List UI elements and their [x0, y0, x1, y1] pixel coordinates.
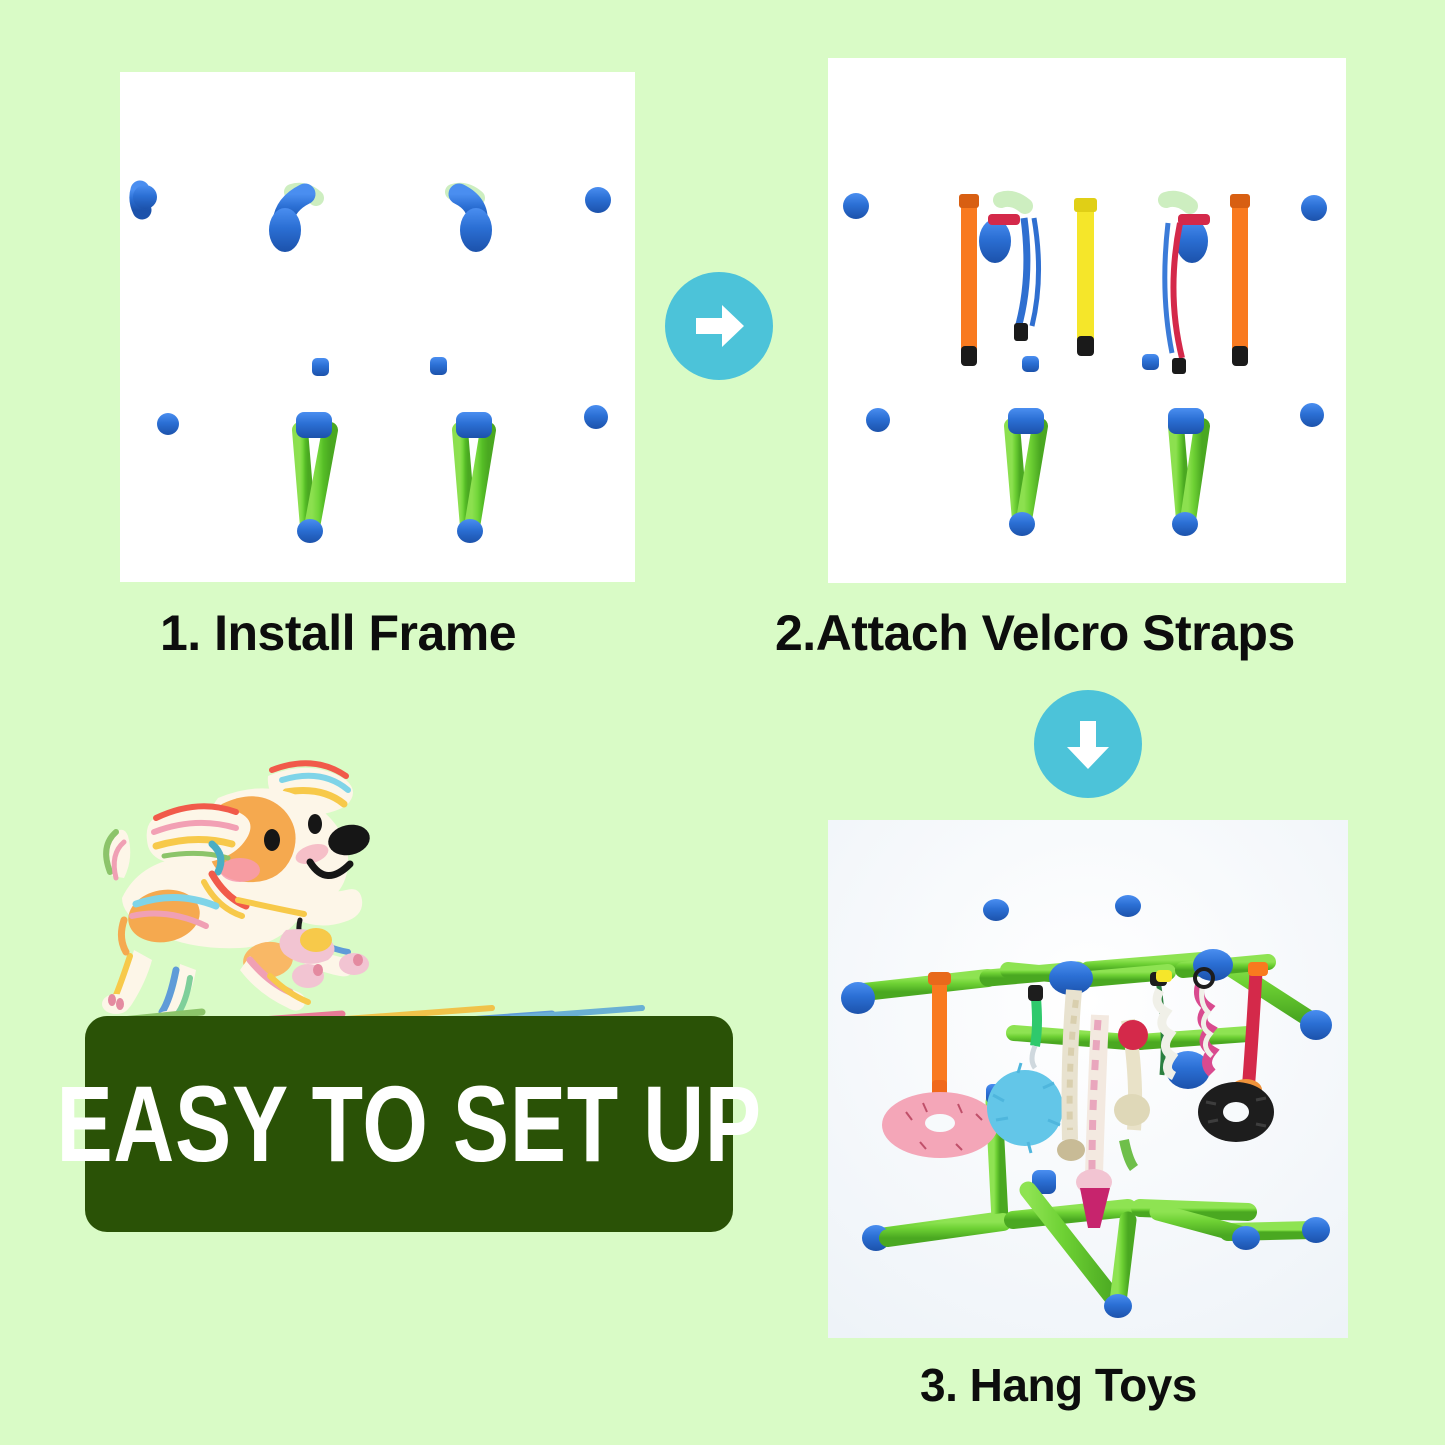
step-1-caption: 1. Install Frame [160, 604, 516, 662]
arrow-down-icon [1057, 713, 1119, 775]
velcro-strap-orange-left [959, 194, 979, 366]
toys-frame-illustration [828, 820, 1348, 1338]
arrow-down-badge [1034, 690, 1142, 798]
velcro-strap-orange-right [1230, 194, 1250, 366]
step-3-caption: 3. Hang Toys [920, 1358, 1197, 1412]
velcro-strap-yellow-center [1074, 198, 1097, 356]
step-3-photo [828, 820, 1348, 1338]
arrow-right-icon [688, 295, 750, 357]
easy-to-set-up-banner: EASY TO SET UP [85, 1016, 733, 1232]
strap-clamp-red-left [988, 214, 1020, 225]
velcro-frame-illustration [828, 58, 1346, 583]
banner-text: EASY TO SET UP [56, 1070, 761, 1178]
arrow-right-badge [665, 272, 773, 380]
step-2-photo [828, 58, 1346, 583]
infographic-canvas: 1. Install Frame 2.Attach Velcro Straps … [0, 0, 1445, 1445]
step-1-photo [120, 72, 635, 582]
strap-clamp-red-right [1178, 214, 1210, 225]
step-2-caption: 2.Attach Velcro Straps [775, 604, 1295, 662]
frame-illustration [120, 72, 635, 582]
